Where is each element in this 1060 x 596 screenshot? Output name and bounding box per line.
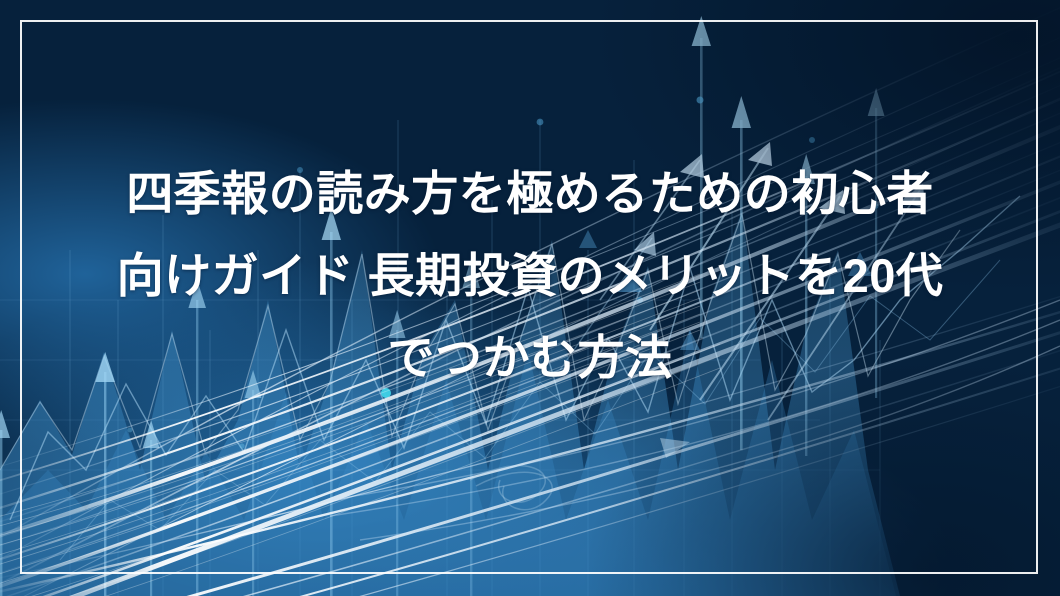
eyecatch-canvas: 四季報の読み方を極めるための初心者 向けガイド 長期投資のメリットを20代 でつ… bbox=[0, 0, 1060, 596]
title-container: 四季報の読み方を極めるための初心者 向けガイド 長期投資のメリットを20代 でつ… bbox=[0, 0, 1060, 596]
title-line-2: 向けガイド 長期投資のメリットを20代 bbox=[65, 235, 995, 317]
title-line-1: 四季報の読み方を極めるための初心者 bbox=[65, 153, 995, 235]
page-title: 四季報の読み方を極めるための初心者 向けガイド 長期投資のメリットを20代 でつ… bbox=[65, 153, 995, 399]
title-line-3: でつかむ方法 bbox=[65, 317, 995, 399]
